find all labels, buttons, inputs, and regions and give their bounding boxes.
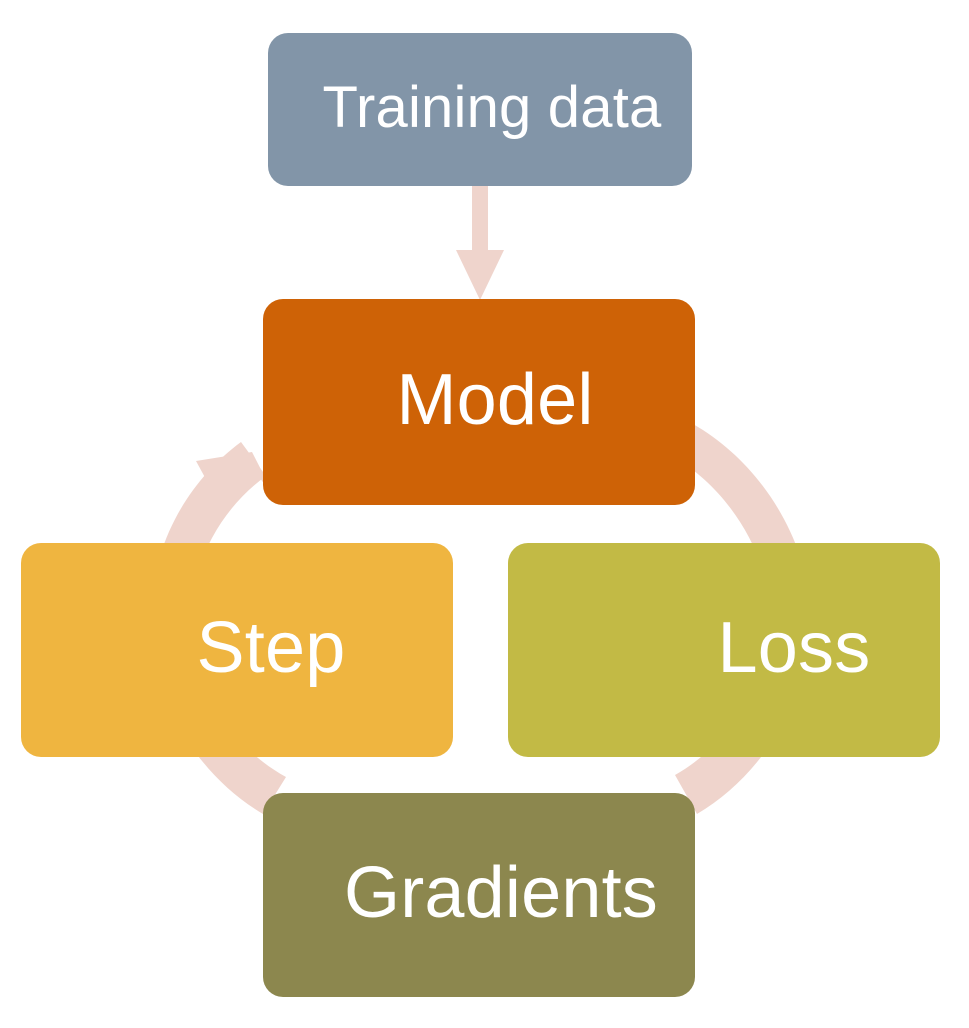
arrow-training-data-to-model [456, 184, 504, 300]
node-loss-label: Loss [718, 612, 871, 688]
diagram-canvas: Training data Model Loss Gradients Step [0, 0, 969, 1028]
node-model-label: Model [396, 364, 593, 440]
node-step[interactable]: Step [21, 543, 453, 757]
node-step-label: Step [197, 612, 346, 688]
node-gradients[interactable]: Gradients [263, 793, 695, 997]
node-loss[interactable]: Loss [508, 543, 940, 757]
node-training-data[interactable]: Training data [268, 33, 692, 186]
node-training-data-label: Training data [323, 79, 662, 141]
node-model[interactable]: Model [263, 299, 695, 505]
node-gradients-label: Gradients [344, 857, 658, 933]
